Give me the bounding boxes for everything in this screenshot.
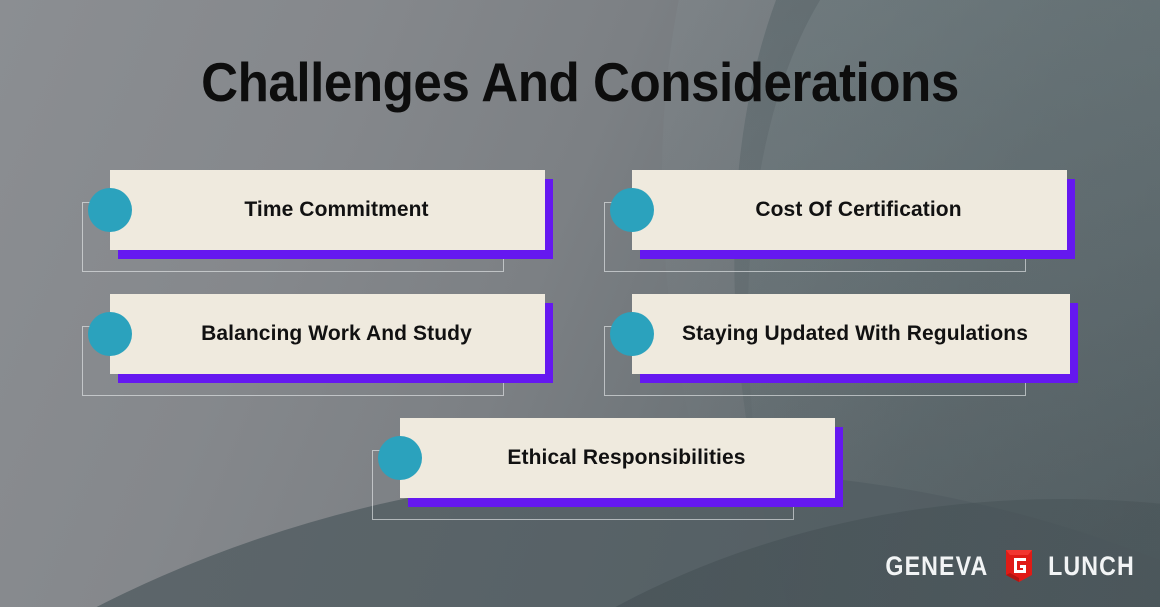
teal-dot-icon bbox=[88, 188, 132, 232]
logo-word-right: LUNCH bbox=[1048, 551, 1135, 582]
geneva-g-shield-icon bbox=[1004, 549, 1034, 583]
card-face: Staying Updated With Regulations bbox=[632, 294, 1070, 374]
card-label: Staying Updated With Regulations bbox=[664, 322, 1038, 346]
card-label: Cost Of Certification bbox=[721, 198, 977, 222]
logo-word-left: GENEVA bbox=[886, 551, 989, 582]
teal-dot-icon bbox=[610, 188, 654, 232]
card-label: Balancing Work And Study bbox=[167, 322, 488, 346]
item-card-ethical-responsibilities[interactable]: Ethical Responsibilities bbox=[400, 418, 835, 498]
slide-canvas: Challenges And Considerations Time Commi… bbox=[0, 0, 1160, 607]
card-face: Balancing Work And Study bbox=[110, 294, 545, 374]
brand-logo[interactable]: GENEVA LUNCH bbox=[877, 549, 1142, 583]
teal-dot-icon bbox=[88, 312, 132, 356]
item-card-balancing-work-and-study[interactable]: Balancing Work And Study bbox=[110, 294, 545, 374]
card-face: Time Commitment bbox=[110, 170, 545, 250]
teal-dot-icon bbox=[610, 312, 654, 356]
card-face: Ethical Responsibilities bbox=[400, 418, 835, 498]
card-face: Cost Of Certification bbox=[632, 170, 1067, 250]
card-label: Time Commitment bbox=[210, 198, 444, 222]
teal-dot-icon bbox=[378, 436, 422, 480]
card-label: Ethical Responsibilities bbox=[473, 446, 761, 470]
item-card-time-commitment[interactable]: Time Commitment bbox=[110, 170, 545, 250]
page-title: Challenges And Considerations bbox=[41, 52, 1120, 113]
item-card-cost-of-certification[interactable]: Cost Of Certification bbox=[632, 170, 1067, 250]
item-card-staying-updated-with-regulations[interactable]: Staying Updated With Regulations bbox=[632, 294, 1070, 374]
